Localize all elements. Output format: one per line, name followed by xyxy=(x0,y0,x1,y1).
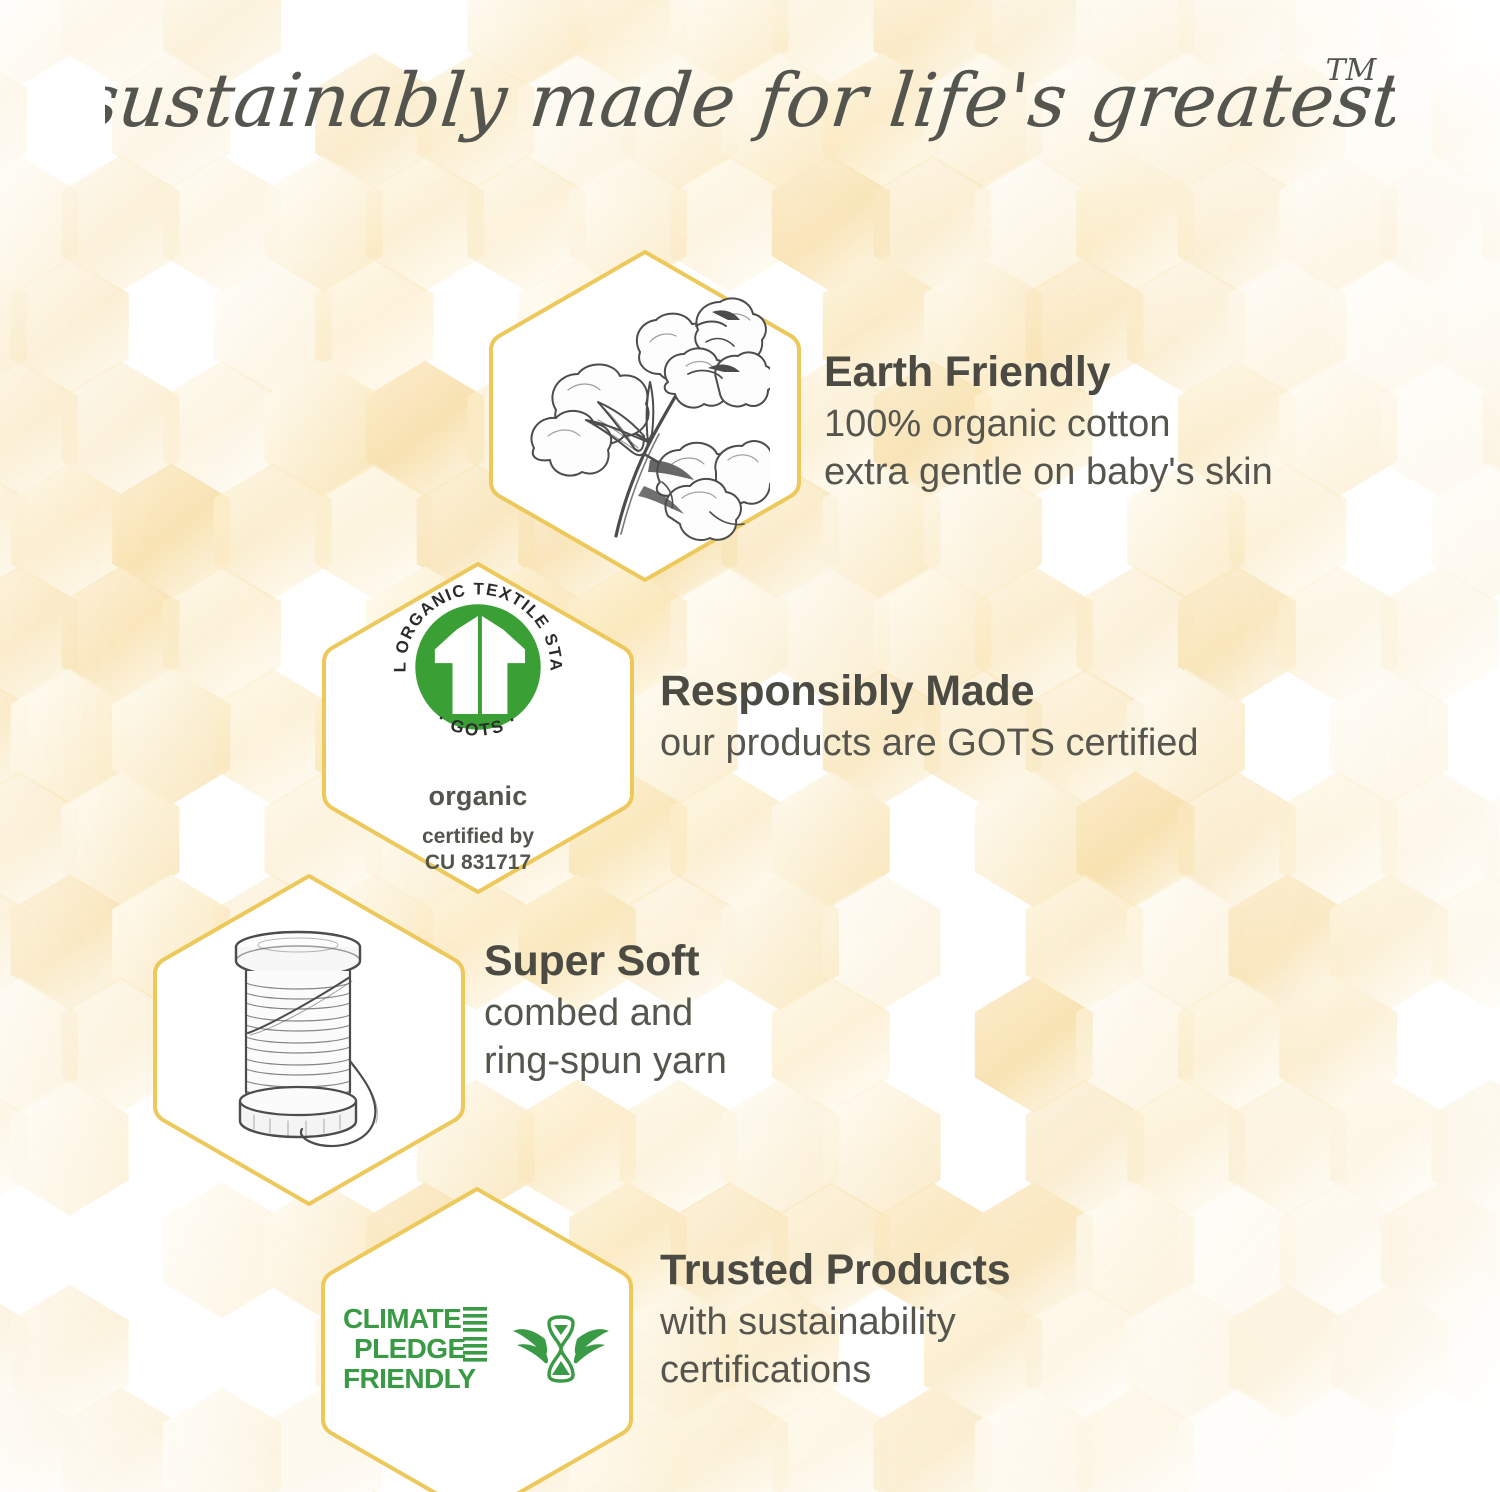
honeycomb-cell xyxy=(1330,1080,1448,1216)
honeycomb-cell xyxy=(1330,669,1448,805)
headline-banner: sustainably made for life's greatest joy… xyxy=(0,42,1500,162)
honeycomb-cell xyxy=(11,1080,129,1216)
honeycomb-cell xyxy=(721,1080,839,1216)
honeycomb-cell xyxy=(0,155,78,291)
honeycomb-cell xyxy=(1127,874,1245,1010)
honeycomb-cell xyxy=(1432,1285,1500,1421)
hex-card-super-soft xyxy=(146,870,472,1210)
hex-card-trusted-products: CLIMATE PLEDGE FRIENDLY xyxy=(314,1183,640,1492)
honeycomb-cell xyxy=(1279,977,1397,1113)
honeycomb-cell xyxy=(1076,977,1194,1113)
honeycomb-cell xyxy=(62,155,180,291)
honeycomb-cell xyxy=(1279,155,1397,291)
honeycomb-cell xyxy=(1432,874,1500,1010)
feature-text-super-soft: Super Soft combed and ring-spun yarn xyxy=(484,938,727,1085)
winged-hourglass-icon xyxy=(511,1309,611,1389)
honeycomb-cell xyxy=(1178,771,1296,907)
honeycomb-cell xyxy=(1178,155,1296,291)
honeycomb-cell xyxy=(0,1080,27,1216)
honeycomb-cell xyxy=(1076,1388,1194,1492)
honeycomb-cell xyxy=(1432,463,1500,599)
gots-badge: GLOBAL ORGANIC TEXTILE STANDARD · GOTS ·… xyxy=(380,569,576,875)
honeycomb-cell xyxy=(1229,874,1347,1010)
honeycomb-cell xyxy=(163,361,281,497)
honeycomb-cell xyxy=(1026,874,1144,1010)
honeycomb-cell xyxy=(1076,1182,1194,1318)
honeycomb-cell xyxy=(670,771,788,907)
honeycomb-cell xyxy=(0,1388,78,1492)
honeycomb-cell xyxy=(163,155,281,291)
cotton-plant-icon xyxy=(520,286,770,546)
honeycomb-cell xyxy=(721,874,839,1010)
honeycomb-cell xyxy=(112,669,230,805)
hex-card-responsibly-made: GLOBAL ORGANIC TEXTILE STANDARD · GOTS ·… xyxy=(315,558,641,898)
honeycomb-cell xyxy=(214,463,332,599)
honeycomb-cell xyxy=(823,1080,941,1216)
honeycomb-cell xyxy=(1381,771,1499,907)
honeycomb-cell xyxy=(1178,977,1296,1113)
honeycomb-cell xyxy=(1432,1080,1500,1216)
feature-desc-line: 100% organic cotton xyxy=(824,401,1273,448)
honeycomb-cell xyxy=(772,1388,890,1492)
honeycomb-cell xyxy=(1178,1388,1296,1492)
feature-desc-line: combed and xyxy=(484,990,727,1037)
feature-text-trusted-products: Trusted Products with sustainability cer… xyxy=(660,1247,1010,1394)
honeycomb-cell xyxy=(11,463,129,599)
honeycomb-cell xyxy=(1229,1080,1347,1216)
honeycomb-cell xyxy=(0,258,27,394)
svg-text:FRIENDLY: FRIENDLY xyxy=(343,1363,477,1394)
honeycomb-cell xyxy=(0,669,27,805)
honeycomb-cell xyxy=(1127,1080,1245,1216)
honeycomb-cell xyxy=(1330,1285,1448,1421)
feature-desc-line: certifications xyxy=(660,1347,1010,1394)
feature-description: with sustainability certifications xyxy=(660,1299,1010,1393)
honeycomb-cell xyxy=(1482,1388,1500,1492)
honeycomb-cell xyxy=(1279,1388,1397,1492)
trademark-symbol: TM xyxy=(1326,53,1378,88)
feature-text-responsibly-made: Responsibly Made our products are GOTS c… xyxy=(660,668,1199,768)
honeycomb-cell xyxy=(0,566,78,702)
honeycomb-cell xyxy=(62,1388,180,1492)
svg-text:PLEDGE: PLEDGE xyxy=(354,1333,466,1364)
honeycomb-cell xyxy=(1279,1182,1397,1318)
infographic-page: sustainably made for life's greatest joy… xyxy=(0,0,1500,1492)
feature-desc-line: with sustainability xyxy=(660,1299,1010,1346)
honeycomb-cell xyxy=(1482,1182,1500,1318)
honeycomb-cell xyxy=(1229,1285,1347,1421)
honeycomb-cell xyxy=(0,874,27,1010)
honeycomb-cell xyxy=(11,258,129,394)
honeycomb-cell xyxy=(873,155,991,291)
honeycomb-cell xyxy=(1482,771,1500,907)
honeycomb-cell xyxy=(1432,258,1500,394)
honeycomb-cell xyxy=(772,771,890,907)
feature-desc-line: ring-spun yarn xyxy=(484,1038,727,1085)
honeycomb-cell xyxy=(0,463,27,599)
gots-certifier-block: certified by CU 831717 xyxy=(422,824,534,875)
honeycomb-cell xyxy=(1330,258,1448,394)
honeycomb-cell xyxy=(1076,771,1194,907)
honeycomb-cell xyxy=(1279,771,1397,907)
honeycomb-cell xyxy=(1482,361,1500,497)
honeycomb-cell xyxy=(163,1388,281,1492)
headline-label: sustainably made for life's greatest joy xyxy=(105,58,1395,144)
gots-seal-icon: GLOBAL ORGANIC TEXTILE STANDARD · GOTS · xyxy=(380,569,576,765)
hex-card-earth-friendly xyxy=(482,246,808,586)
honeycomb-cell xyxy=(823,874,941,1010)
climate-pledge-wordmark: CLIMATE PLEDGE FRIENDLY xyxy=(343,1301,495,1397)
honeycomb-cell xyxy=(366,361,484,497)
honeycomb-cell xyxy=(1381,1182,1499,1318)
honeycomb-cell xyxy=(1381,155,1499,291)
honeycomb-cell xyxy=(1076,155,1194,291)
honeycomb-cell xyxy=(62,361,180,497)
feature-title: Earth Friendly xyxy=(824,349,1273,395)
honeycomb-cell xyxy=(264,361,382,497)
honeycomb-cell xyxy=(1026,1285,1144,1421)
honeycomb-cell xyxy=(315,258,433,394)
honeycomb-cell xyxy=(11,1285,129,1421)
honeycomb-cell xyxy=(1026,1080,1144,1216)
honeycomb-cell xyxy=(264,155,382,291)
honeycomb-cell xyxy=(11,669,129,805)
honeycomb-cell xyxy=(670,1388,788,1492)
honeycomb-cell xyxy=(163,566,281,702)
feature-description: our products are GOTS certified xyxy=(660,720,1199,767)
honeycomb-cell xyxy=(975,155,1093,291)
svg-text:CLIMATE: CLIMATE xyxy=(343,1303,461,1334)
honeycomb-cell xyxy=(1330,874,1448,1010)
feature-title: Trusted Products xyxy=(660,1247,1010,1293)
feature-description: combed and ring-spun yarn xyxy=(484,990,727,1084)
gots-organic-label: organic xyxy=(429,781,528,812)
honeycomb-cell xyxy=(975,771,1093,907)
honeycomb-cell xyxy=(0,771,78,907)
honeycomb-cell xyxy=(1279,361,1397,497)
honeycomb-cell xyxy=(772,977,890,1113)
honeycomb-cell xyxy=(214,258,332,394)
feature-title: Super Soft xyxy=(484,938,727,984)
honeycomb-cell xyxy=(0,361,78,497)
honeycomb-cell xyxy=(1279,566,1397,702)
honeycomb-cell xyxy=(214,669,332,805)
honeycomb-cell xyxy=(11,874,129,1010)
feature-description: 100% organic cotton extra gentle on baby… xyxy=(824,401,1273,495)
feature-text-earth-friendly: Earth Friendly 100% organic cotton extra… xyxy=(824,349,1273,496)
honeycomb-cell xyxy=(0,977,78,1113)
honeycomb-cell xyxy=(975,977,1093,1113)
honeycomb-cell xyxy=(62,566,180,702)
feature-desc-line: extra gentle on baby's skin xyxy=(824,449,1273,496)
headline-script-text: sustainably made for life's greatest joy… xyxy=(105,42,1395,162)
honeycomb-cell xyxy=(1381,566,1499,702)
honeycomb-cell xyxy=(1482,155,1500,291)
honeycomb-cell xyxy=(0,1285,27,1421)
honeycomb-cell xyxy=(1127,1285,1245,1421)
thread-spool-icon xyxy=(194,915,424,1165)
honeycomb-cell xyxy=(873,1388,991,1492)
gots-certified-by: certified by xyxy=(422,824,534,850)
honeycomb-cell xyxy=(1381,361,1499,497)
honeycomb-cell xyxy=(366,155,484,291)
feature-title: Responsibly Made xyxy=(660,668,1199,714)
honeycomb-cell xyxy=(975,1388,1093,1492)
honeycomb-cell xyxy=(1178,1182,1296,1318)
honeycomb-cell xyxy=(112,463,230,599)
climate-pledge-friendly-badge: CLIMATE PLEDGE FRIENDLY xyxy=(343,1301,611,1397)
feature-desc-line: our products are GOTS certified xyxy=(660,720,1199,767)
